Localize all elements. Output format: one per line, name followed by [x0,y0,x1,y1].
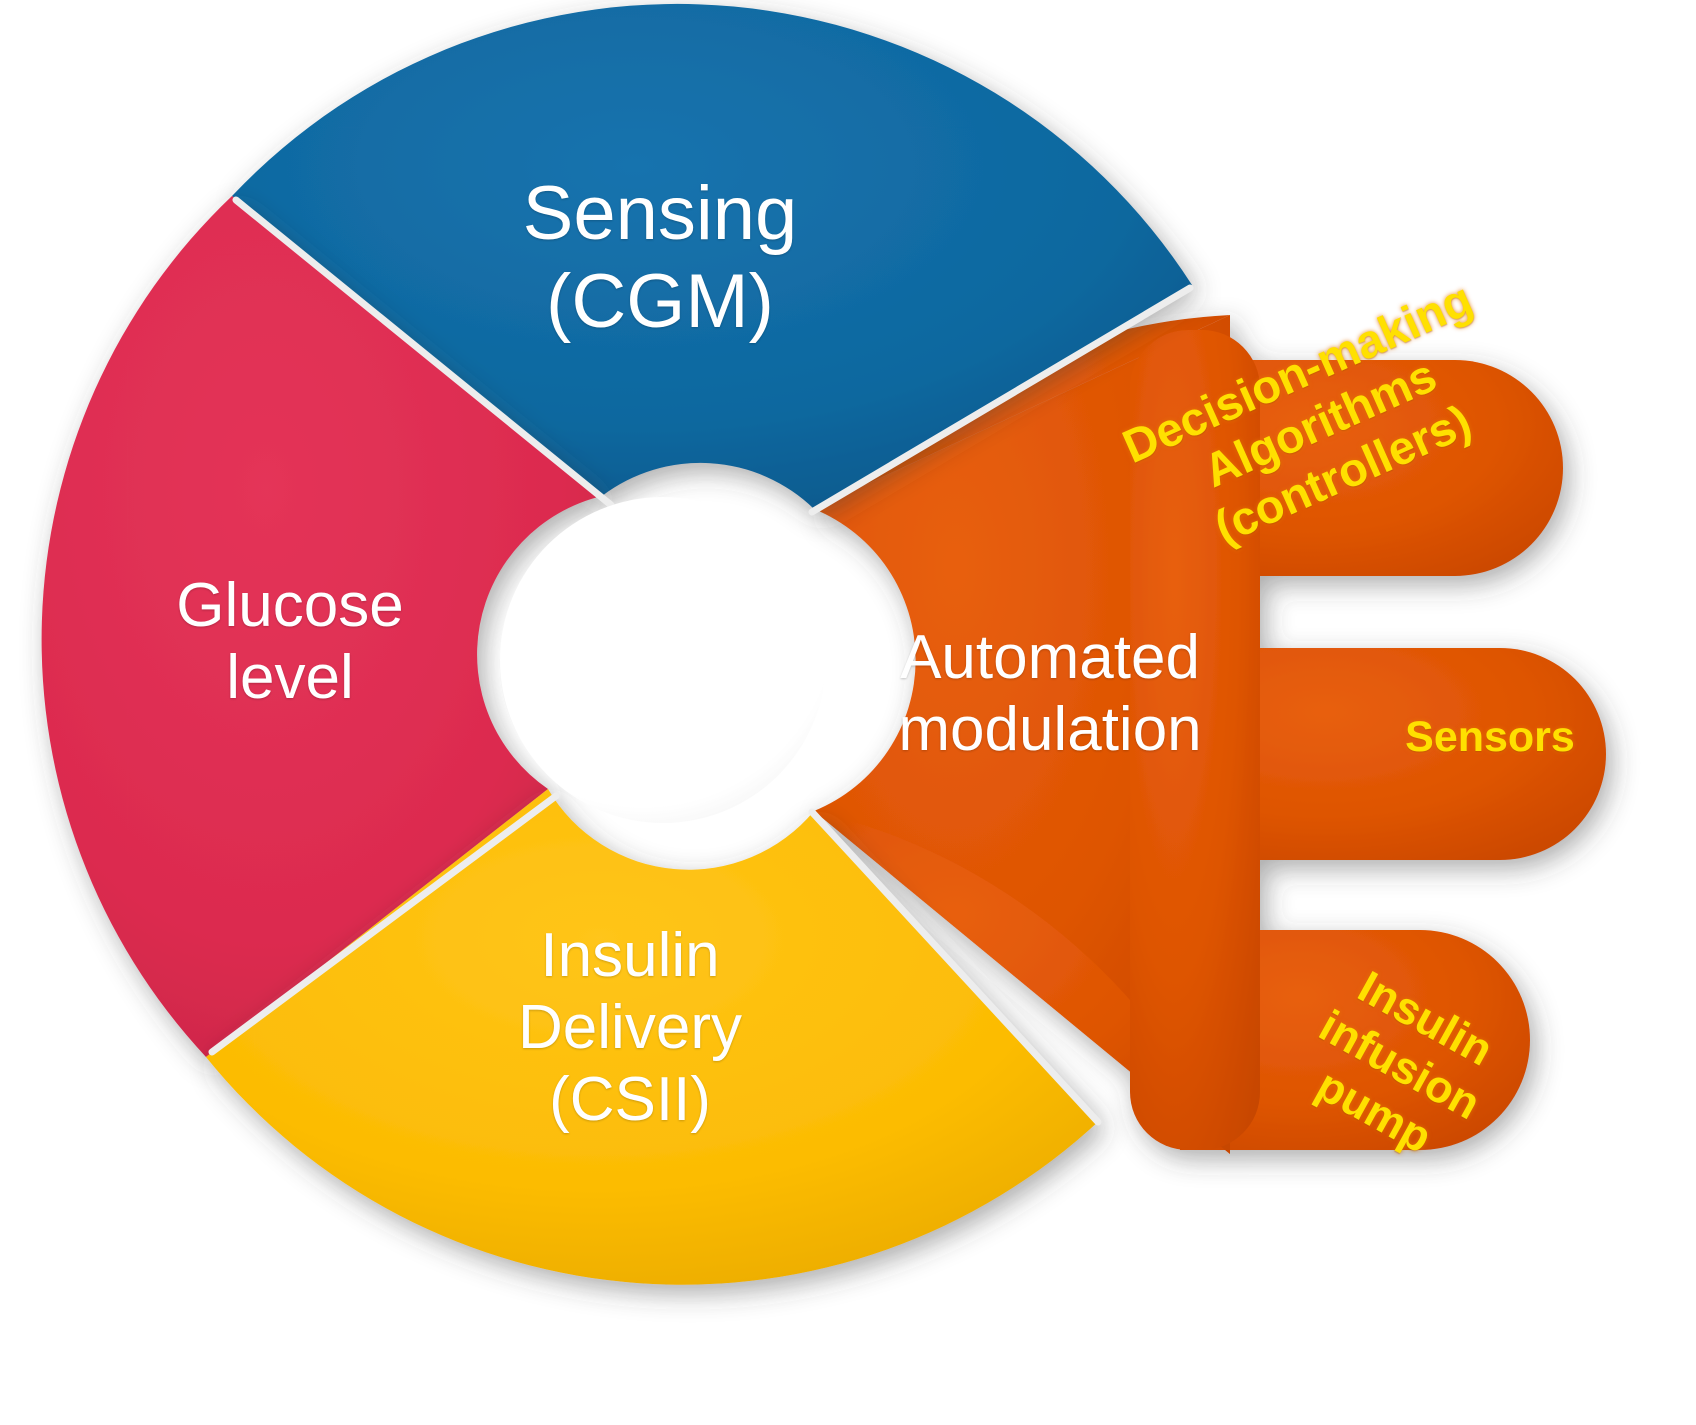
center-hub [500,497,826,823]
diagram-canvas: Sensing (CGM) Automated modulation Insul… [0,0,1696,1425]
orange-palm-edge [1130,330,1260,1150]
cycle-wheel-graphic [0,0,1696,1425]
